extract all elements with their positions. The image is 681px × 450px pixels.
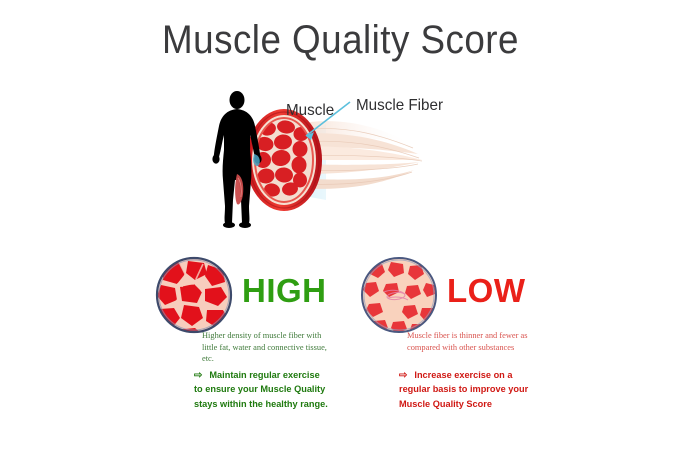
label-muscle: Muscle — [286, 102, 334, 120]
verdict-low: LOW — [447, 274, 525, 307]
muscle-density-disc-high — [155, 256, 233, 334]
label-muscle-fiber: Muscle Fiber — [356, 97, 443, 115]
advice-low: ⇨Increase exercise on a regular basis to… — [399, 368, 534, 411]
page-title: Muscle Quality Score — [27, 18, 654, 63]
infographic-canvas: Muscle Quality Score — [0, 0, 681, 450]
panel-low: LOW Muscle fiber is thinner and fewer as… — [355, 250, 625, 435]
muscle-density-disc-low — [360, 256, 438, 334]
advice-text-low: Increase exercise on a regular basis to … — [399, 370, 528, 409]
description-high: Higher density of muscle fiber with litt… — [202, 330, 327, 365]
advice-high: ⇨Maintain regular exercise to ensure you… — [194, 368, 329, 411]
arrow-bullet-icon-high: ⇨ — [194, 371, 202, 381]
advice-text-high: Maintain regular exercise to ensure your… — [194, 370, 328, 409]
description-low: Muscle fiber is thinner and fewer as com… — [407, 330, 532, 353]
arrow-bullet-icon-low: ⇨ — [399, 371, 407, 381]
verdict-high: HIGH — [242, 274, 327, 307]
